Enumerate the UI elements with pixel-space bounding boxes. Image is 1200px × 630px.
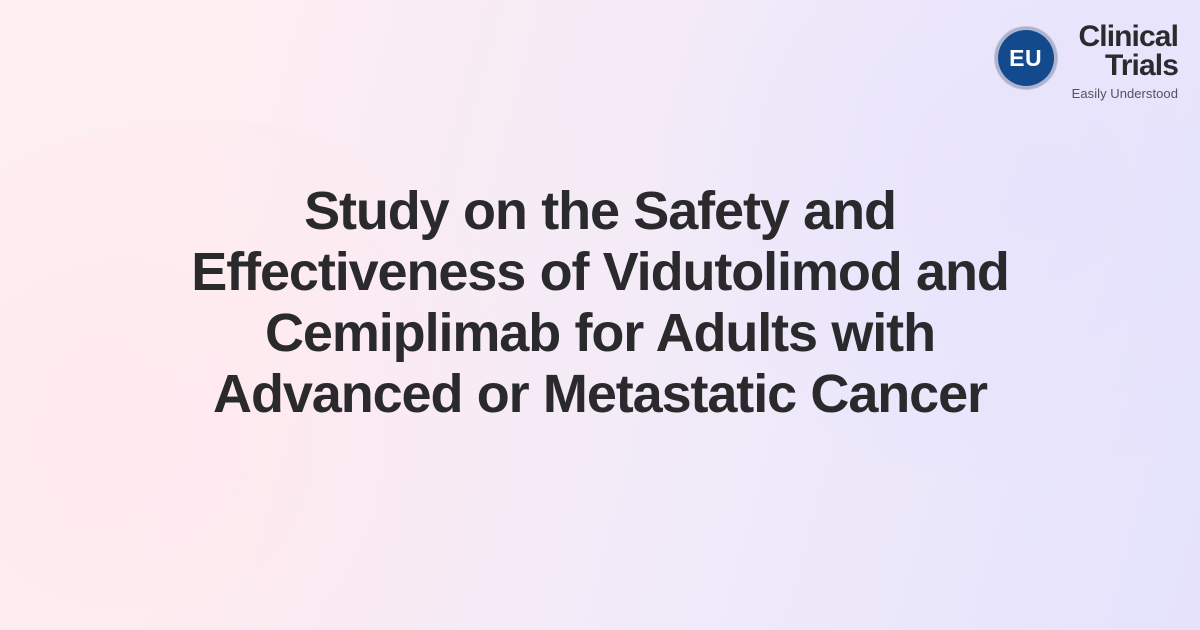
page-title-line-1: Study on the Safety and (70, 181, 1130, 242)
page-title-line-2: Effectiveness of Vidutolimod and (70, 242, 1130, 303)
page-title-line-3: Cemiplimab for Adults with (70, 303, 1130, 364)
page-title: Study on the Safety and Effectiveness of… (70, 181, 1130, 425)
page-title-line-4: Advanced or Metastatic Cancer (70, 364, 1130, 425)
headline-container: Study on the Safety and Effectiveness of… (0, 0, 1200, 630)
og-share-card: EU Clinical Trials Easily Understood Stu… (0, 0, 1200, 630)
